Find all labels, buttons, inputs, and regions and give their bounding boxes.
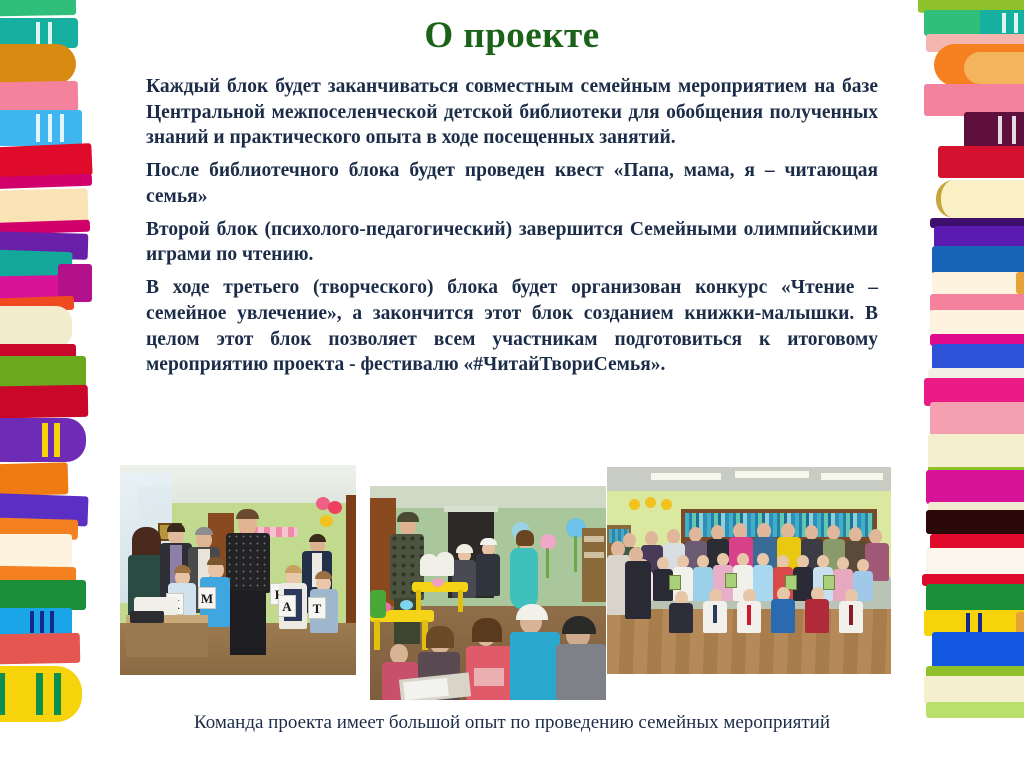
paragraph-2: После библиотечного блока будет проведен… [146,158,878,209]
body-text-block: Каждый блок будет заканчиваться совместн… [146,74,878,378]
photo-group-library [607,467,891,674]
paragraph-1: Каждый блок будет заканчиваться совместн… [146,74,878,151]
letter-card-4: А [278,595,296,617]
paragraph-3: Второй блок (психолого-педагогический) з… [146,217,878,268]
presentation-slide: О проекте Каждый блок будет заканчиватьс… [0,0,1024,768]
letter-card-2: М [198,587,216,609]
book-stack-right [896,0,1024,768]
photo-letter-cards: К М Б А Т [120,465,356,675]
photo-caption: Команда проекта имеет большой опыт по пр… [128,712,896,734]
paragraph-4: В ходе третьего (творческого) блока буде… [146,275,878,378]
page-title: О проекте [128,14,896,57]
book-stack-left [0,0,128,768]
letter-card-5: Т [308,597,326,619]
photo-activity-room [370,486,606,700]
